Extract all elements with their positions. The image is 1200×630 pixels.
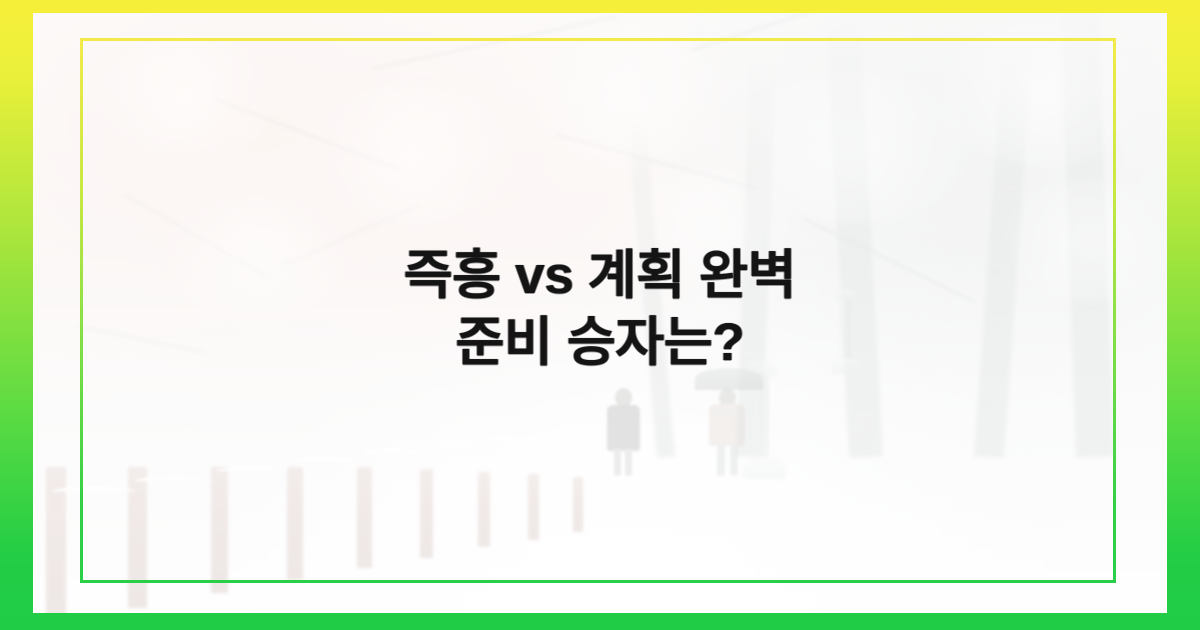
blossom-cluster [532,31,722,161]
path-texture [33,337,1167,613]
blossom-cluster [169,193,349,313]
blossom-cluster [1008,181,1167,301]
blossom-cluster [305,85,515,225]
blossom-cluster [101,37,271,157]
blossom-cluster [940,25,1140,165]
photo-frame [33,13,1167,613]
blossom-cluster [623,169,793,284]
thumbnail-card: 즉흥 vs 계획 완벽 준비 승자는? [0,0,1200,630]
